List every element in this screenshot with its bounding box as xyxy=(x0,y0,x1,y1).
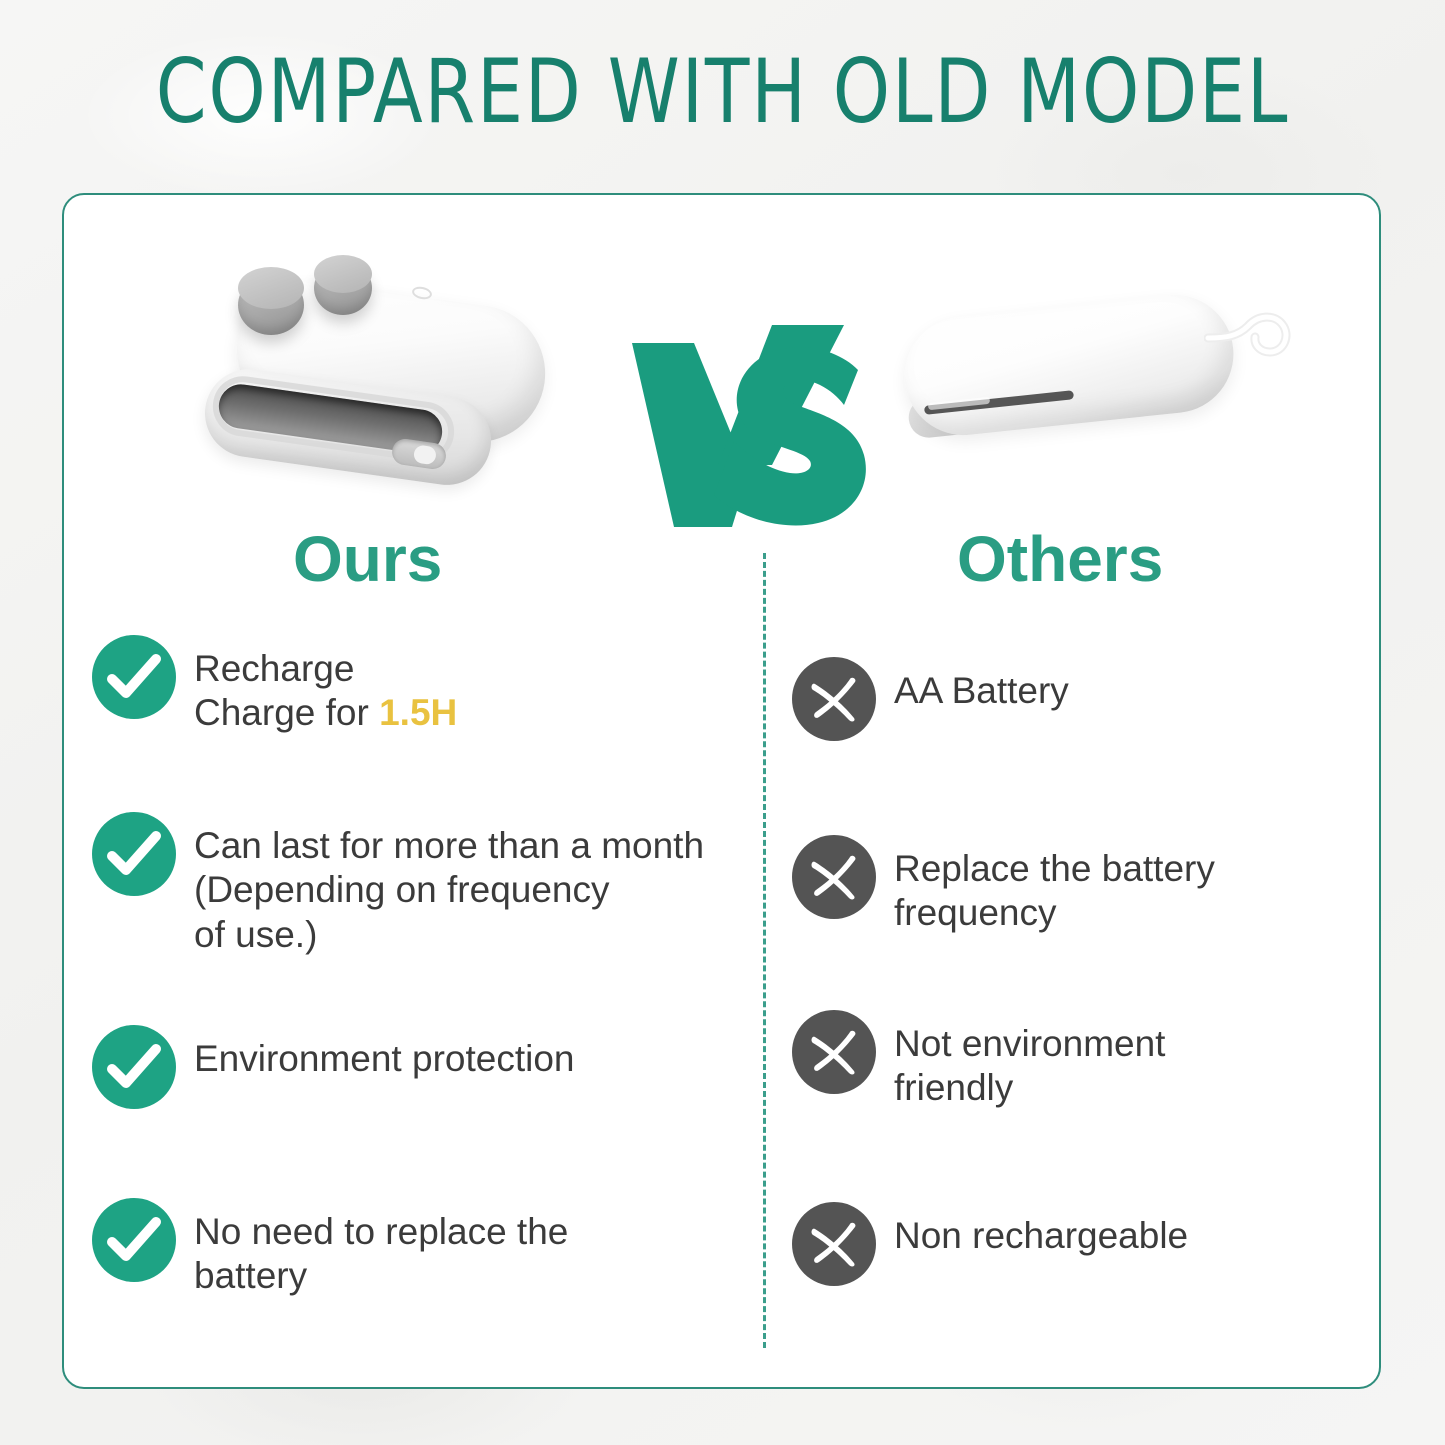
list-item: Replace the battery frequency xyxy=(792,835,1215,936)
list-item: Non rechargeable xyxy=(792,1202,1188,1286)
column-title-others: Others xyxy=(957,527,1163,591)
feature-text: AA Battery xyxy=(894,657,1069,713)
feature-text: Not environment friendly xyxy=(894,1010,1165,1111)
list-item: Recharge Charge for 1.5H xyxy=(92,635,457,736)
feature-text: Recharge Charge for 1.5H xyxy=(194,635,457,736)
cross-icon xyxy=(792,835,876,919)
page-title: COMPARED WITH OLD MODEL xyxy=(58,48,1387,136)
comparison-card: Ours Others Recharge Charge for 1.5H Can… xyxy=(62,193,1381,1389)
check-icon xyxy=(92,1025,176,1109)
list-item: AA Battery xyxy=(792,657,1069,741)
product-image-ours xyxy=(174,255,604,535)
sealer-knob-large-top xyxy=(238,267,304,309)
feature-text: Replace the battery frequency xyxy=(894,835,1215,936)
cross-icon xyxy=(792,1202,876,1286)
feature-text: Environment protection xyxy=(194,1025,574,1081)
cross-icon xyxy=(792,1010,876,1094)
vs-icon xyxy=(622,315,882,535)
feature-text: Non rechargeable xyxy=(894,1202,1188,1258)
cross-icon xyxy=(792,657,876,741)
check-icon xyxy=(92,635,176,719)
product-image-others xyxy=(884,280,1314,510)
list-item: Not environment friendly xyxy=(792,1010,1165,1111)
feature-text: No need to replace the battery xyxy=(194,1198,568,1299)
feature-text: Can last for more than a month (Dependin… xyxy=(194,812,704,957)
list-item: Environment protection xyxy=(92,1025,574,1109)
column-divider xyxy=(763,553,766,1348)
sealer-knob-small-top xyxy=(314,255,372,293)
column-title-ours: Ours xyxy=(293,527,442,591)
check-icon xyxy=(92,1198,176,1282)
list-item: Can last for more than a month (Dependin… xyxy=(92,812,704,957)
hook-icon xyxy=(1204,294,1294,374)
check-icon xyxy=(92,812,176,896)
list-item: No need to replace the battery xyxy=(92,1198,568,1299)
old-sealer-body xyxy=(899,289,1240,441)
